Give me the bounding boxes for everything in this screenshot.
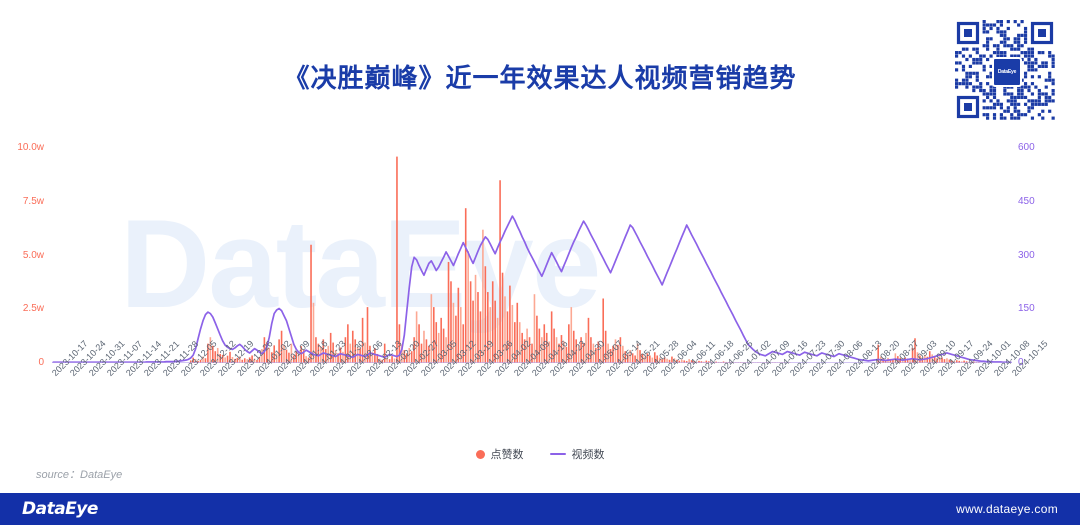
y-axis-right-tick-label: 450 [1018,196,1058,207]
source-note: source：DataEye [36,466,122,482]
footer-logo: DataEye [22,499,98,519]
y-axis-right-tick-label: 600 [1018,142,1058,153]
footer-url[interactable]: www.dataeye.com [956,502,1058,516]
page-title: 《决胜巅峰》近一年效果达人视频营销趋势 [0,58,1080,95]
page-footer: DataEye www.dataeye.com [0,493,1080,525]
line-series [53,216,1011,362]
bar [465,208,467,363]
bar-series [190,157,980,363]
y-axis-left-tick-label: 10.0w [0,142,44,153]
chart-canvas [52,148,1012,363]
y-axis-right-tick-label: 300 [1018,250,1058,261]
legend-line-icon [550,453,566,455]
chart-plot-area [52,148,1012,363]
legend-dot-icon [476,450,485,459]
chart-legend: 点赞数 视频数 [0,446,1080,462]
legend-label-videos: 视频数 [572,446,605,462]
bar [509,286,511,363]
y-axis-left-tick-label: 5.0w [0,250,44,261]
legend-label-likes: 点赞数 [491,446,524,462]
y-axis-right-tick-label: 150 [1018,303,1058,314]
bar [499,180,501,363]
bar [492,281,494,363]
qr-center-logo: DataEye [992,57,1022,87]
y-axis-left-tick-label: 7.5w [0,196,44,207]
qr-code[interactable]: DataEye [955,20,1055,120]
legend-item-videos[interactable]: 视频数 [550,446,605,462]
legend-item-likes[interactable]: 点赞数 [476,446,524,462]
y-axis-left-tick-label: 0 [0,357,44,368]
bar [396,157,398,363]
y-axis-left-tick-label: 2.5w [0,303,44,314]
chart-page: 《决胜巅峰》近一年效果达人视频营销趋势 DataEye DataEye [0,0,1080,525]
